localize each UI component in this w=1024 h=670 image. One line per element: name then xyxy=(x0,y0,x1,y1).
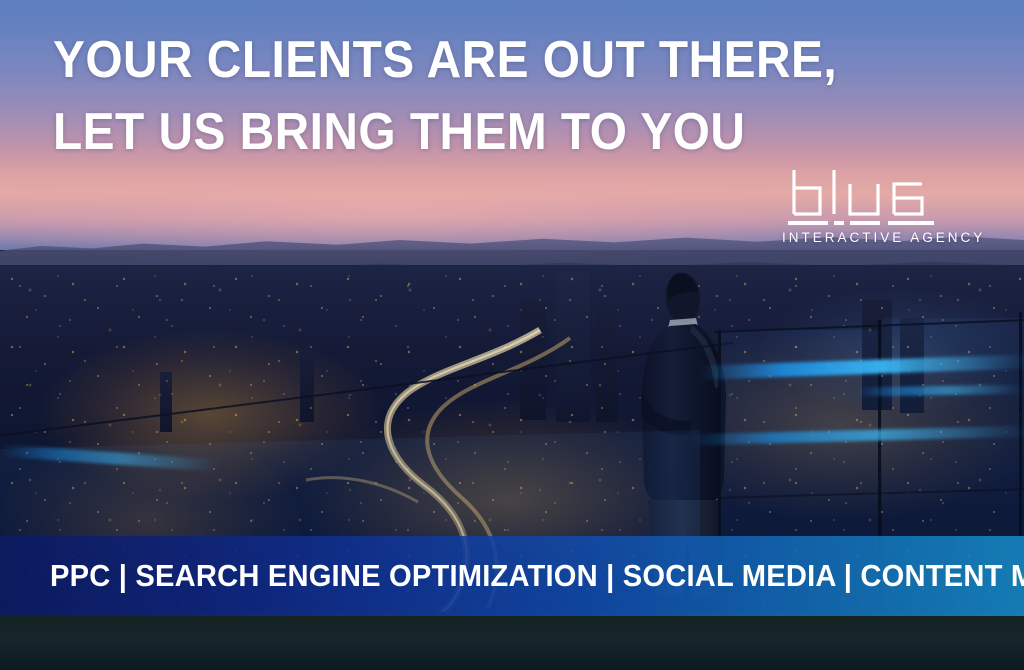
services-banner-text: PPC | SEARCH ENGINE OPTIMIZATION | SOCIA… xyxy=(50,558,1024,594)
brand-logo[interactable]: INTERACTIVE AGENCY xyxy=(782,168,968,246)
logo-tagline: INTERACTIVE AGENCY xyxy=(782,230,968,246)
blue-logo-icon xyxy=(782,168,968,230)
logo-wordmark-blue xyxy=(782,168,968,230)
headline: YOUR CLIENTS ARE OUT THERE, LET US BRING… xyxy=(53,24,793,168)
services-banner: PPC | SEARCH ENGINE OPTIMIZATION | SOCIA… xyxy=(0,536,1024,616)
headline-line-2: LET US BRING THEM TO YOU xyxy=(53,96,734,168)
observation-deck-floor xyxy=(0,612,1024,670)
hero-banner-image: YOUR CLIENTS ARE OUT THERE, LET US BRING… xyxy=(0,0,1024,670)
headline-line-1: YOUR CLIENTS ARE OUT THERE, xyxy=(53,24,734,96)
